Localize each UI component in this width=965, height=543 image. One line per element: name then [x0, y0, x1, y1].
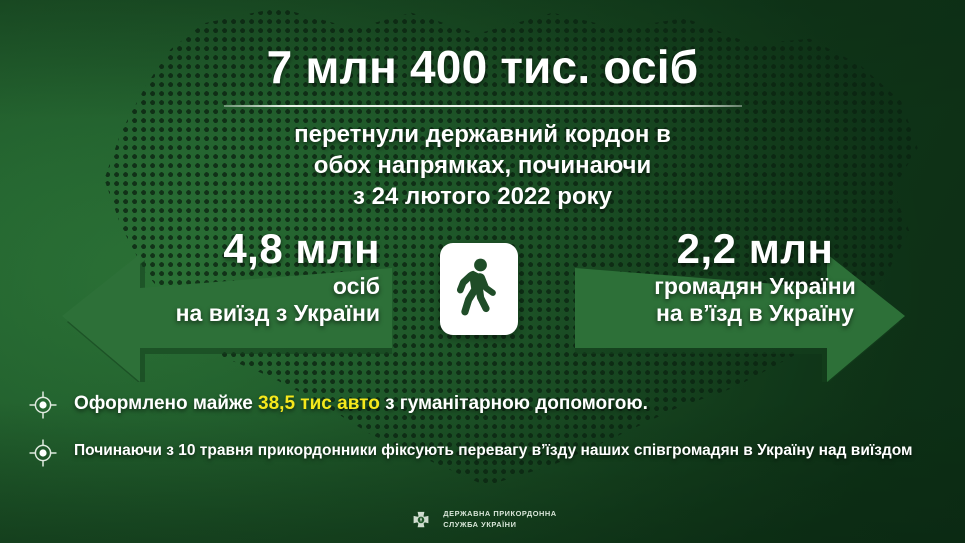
headline-subtitle-line-3: з 24 лютого 2022 року — [0, 181, 965, 212]
pedestrian-badge — [440, 243, 518, 335]
infographic-canvas: 7 млн 400 тис. осіб перетнули державний … — [0, 0, 965, 543]
stat-outbound: 4,8 млн осіб на виїзд з України — [40, 228, 380, 328]
note-1-highlight: 38,5 тис авто — [258, 393, 380, 414]
footer-line-1: Державна прикордонна — [443, 509, 556, 520]
crosshair-icon — [28, 438, 58, 468]
stat-inbound-unit: громадян України — [590, 273, 920, 301]
note-humanitarian-vehicles: Оформлено майже 38,5 тис авто з гуманіта… — [28, 392, 938, 420]
crosshair-icon — [28, 390, 58, 420]
headline-subtitle-line-1: перетнули державний кордон в — [0, 119, 965, 150]
headline-block: 7 млн 400 тис. осіб перетнули державний … — [0, 44, 965, 212]
note-1-text-after: з гуманітарною допомогою. — [380, 393, 648, 414]
footer-agency-name: Державна прикордонна Служба України — [443, 509, 556, 530]
footer-line-2: Служба України — [443, 520, 556, 531]
stat-inbound-direction: на в’їзд в Україну — [590, 300, 920, 328]
border-guard-cross-emblem-icon — [408, 507, 434, 533]
footer-branding: Державна прикордонна Служба України — [0, 507, 965, 533]
note-2-text: Починаючи з 10 травня прикордонники фікс… — [74, 440, 913, 462]
stat-outbound-direction: на виїзд з України — [40, 300, 380, 328]
note-1-text: Оформлено майже 38,5 тис авто з гуманіта… — [74, 392, 648, 416]
stat-outbound-number: 4,8 млн — [40, 228, 380, 271]
note-1-text-before: Оформлено майже — [74, 393, 258, 414]
headline-divider — [224, 105, 742, 107]
pedestrian-walking-icon — [457, 258, 501, 320]
headline-value: 7 млн 400 тис. осіб — [0, 44, 965, 91]
stat-outbound-unit: осіб — [40, 273, 380, 301]
stat-inbound-number: 2,2 млн — [590, 228, 920, 271]
headline-subtitle-line-2: обох напрямках, починаючи — [0, 150, 965, 181]
stat-inbound: 2,2 млн громадян України на в’їзд в Укра… — [590, 228, 920, 328]
note-entry-exceeds-exit: Починаючи з 10 травня прикордонники фікс… — [28, 440, 918, 468]
